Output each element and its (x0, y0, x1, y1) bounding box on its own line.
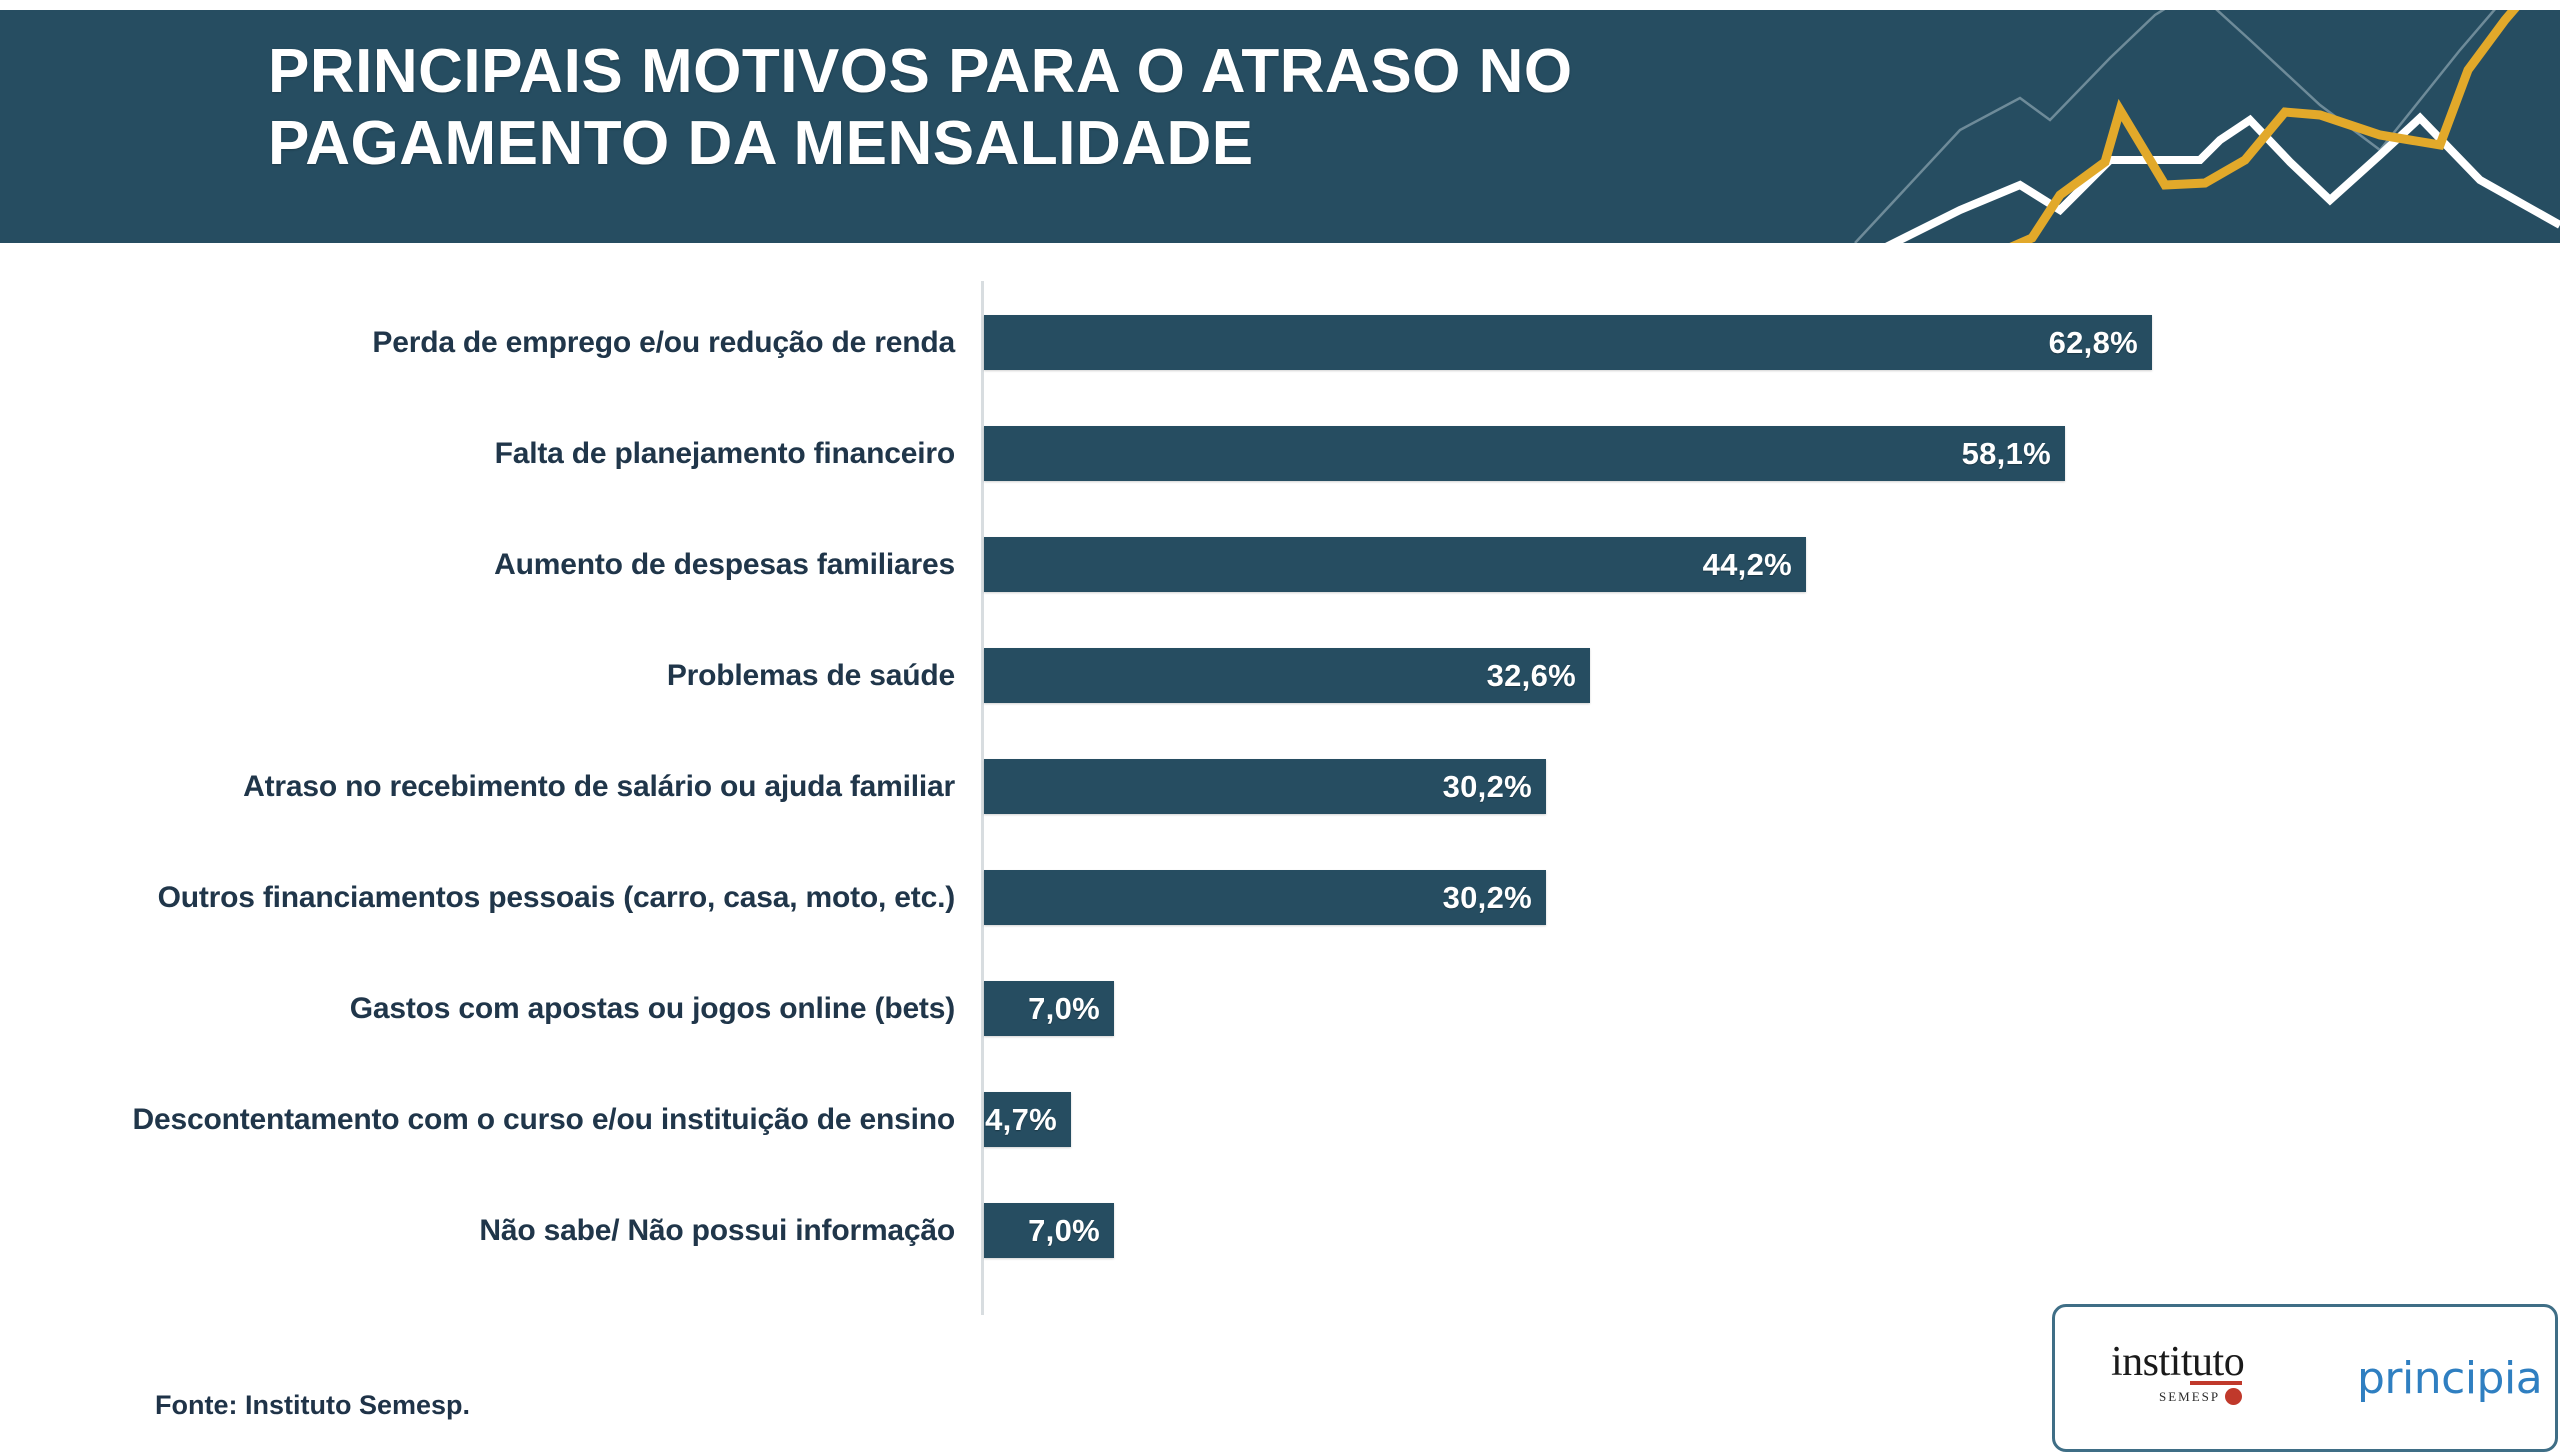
instituto-semesp-logo: instituto SEMESP (2111, 1341, 2244, 1405)
bar: 4,7% (984, 1092, 1071, 1147)
bar-category-label: Outros financiamentos pessoais (carro, c… (0, 870, 955, 925)
bar: 58,1% (984, 426, 2065, 481)
bar-value-label: 58,1% (1962, 436, 2065, 472)
bar-value-label: 62,8% (2049, 325, 2152, 361)
bar-row: Não sabe/ Não possui informação7,0% (0, 1203, 2560, 1258)
bar-value-label: 30,2% (1443, 769, 1546, 805)
bar-row: Problemas de saúde32,6% (0, 648, 2560, 703)
bar-row: Gastos com apostas ou jogos online (bets… (0, 981, 2560, 1036)
bar-row: Outros financiamentos pessoais (carro, c… (0, 870, 2560, 925)
bar-row: Perda de emprego e/ou redução de renda62… (0, 315, 2560, 370)
bar-value-label: 44,2% (1703, 547, 1806, 583)
principia-logo: principia (2357, 1353, 2542, 1404)
bar-row: Descontentamento com o curso e/ou instit… (0, 1092, 2560, 1147)
bar: 30,2% (984, 759, 1546, 814)
instituto-logo-sub: SEMESP (2159, 1388, 2242, 1405)
bar-category-label: Atraso no recebimento de salário ou ajud… (0, 759, 955, 814)
semesp-dot-icon (2225, 1388, 2242, 1405)
bar-row: Aumento de despesas familiares44,2% (0, 537, 2560, 592)
header-band: PRINCIPAIS MOTIVOS PARA O ATRASO NO PAGA… (0, 10, 2560, 243)
bar-category-label: Falta de planejamento financeiro (0, 426, 955, 481)
bar-category-label: Não sabe/ Não possui informação (0, 1203, 955, 1258)
bar-value-label: 7,0% (1028, 991, 1114, 1027)
page-title: PRINCIPAIS MOTIVOS PARA O ATRASO NO PAGA… (268, 36, 1868, 180)
bar: 7,0% (984, 1203, 1114, 1258)
bar: 44,2% (984, 537, 1806, 592)
source-note: Fonte: Instituto Semesp. (155, 1390, 470, 1421)
bar-category-label: Descontentamento com o curso e/ou instit… (0, 1092, 955, 1147)
bar-value-label: 32,6% (1487, 658, 1590, 694)
bar: 30,2% (984, 870, 1546, 925)
bar: 32,6% (984, 648, 1590, 703)
bar-row: Atraso no recebimento de salário ou ajud… (0, 759, 2560, 814)
bar-category-label: Gastos com apostas ou jogos online (bets… (0, 981, 955, 1036)
instituto-logo-word: instituto (2111, 1339, 2244, 1385)
instituto-logo-underline (2190, 1381, 2242, 1385)
bar: 7,0% (984, 981, 1114, 1036)
bar-value-label: 7,0% (1028, 1213, 1114, 1249)
decorative-line-chart-icon (1820, 10, 2560, 243)
bar-value-label: 4,7% (985, 1102, 1071, 1138)
semesp-logo-text: SEMESP (2159, 1389, 2220, 1405)
page-title-line-1: PRINCIPAIS MOTIVOS PARA O ATRASO NO (268, 36, 1868, 108)
logo-box: instituto SEMESP principia (2052, 1304, 2558, 1452)
bar: 62,8% (984, 315, 2152, 370)
bar-category-label: Perda de emprego e/ou redução de renda (0, 315, 955, 370)
horizontal-bar-chart: Perda de emprego e/ou redução de renda62… (0, 243, 2560, 1303)
bar-value-label: 30,2% (1443, 880, 1546, 916)
page-title-line-2: PAGAMENTO DA MENSALIDADE (268, 108, 1868, 180)
bar-category-label: Aumento de despesas familiares (0, 537, 955, 592)
bar-row: Falta de planejamento financeiro58,1% (0, 426, 2560, 481)
bar-category-label: Problemas de saúde (0, 648, 955, 703)
